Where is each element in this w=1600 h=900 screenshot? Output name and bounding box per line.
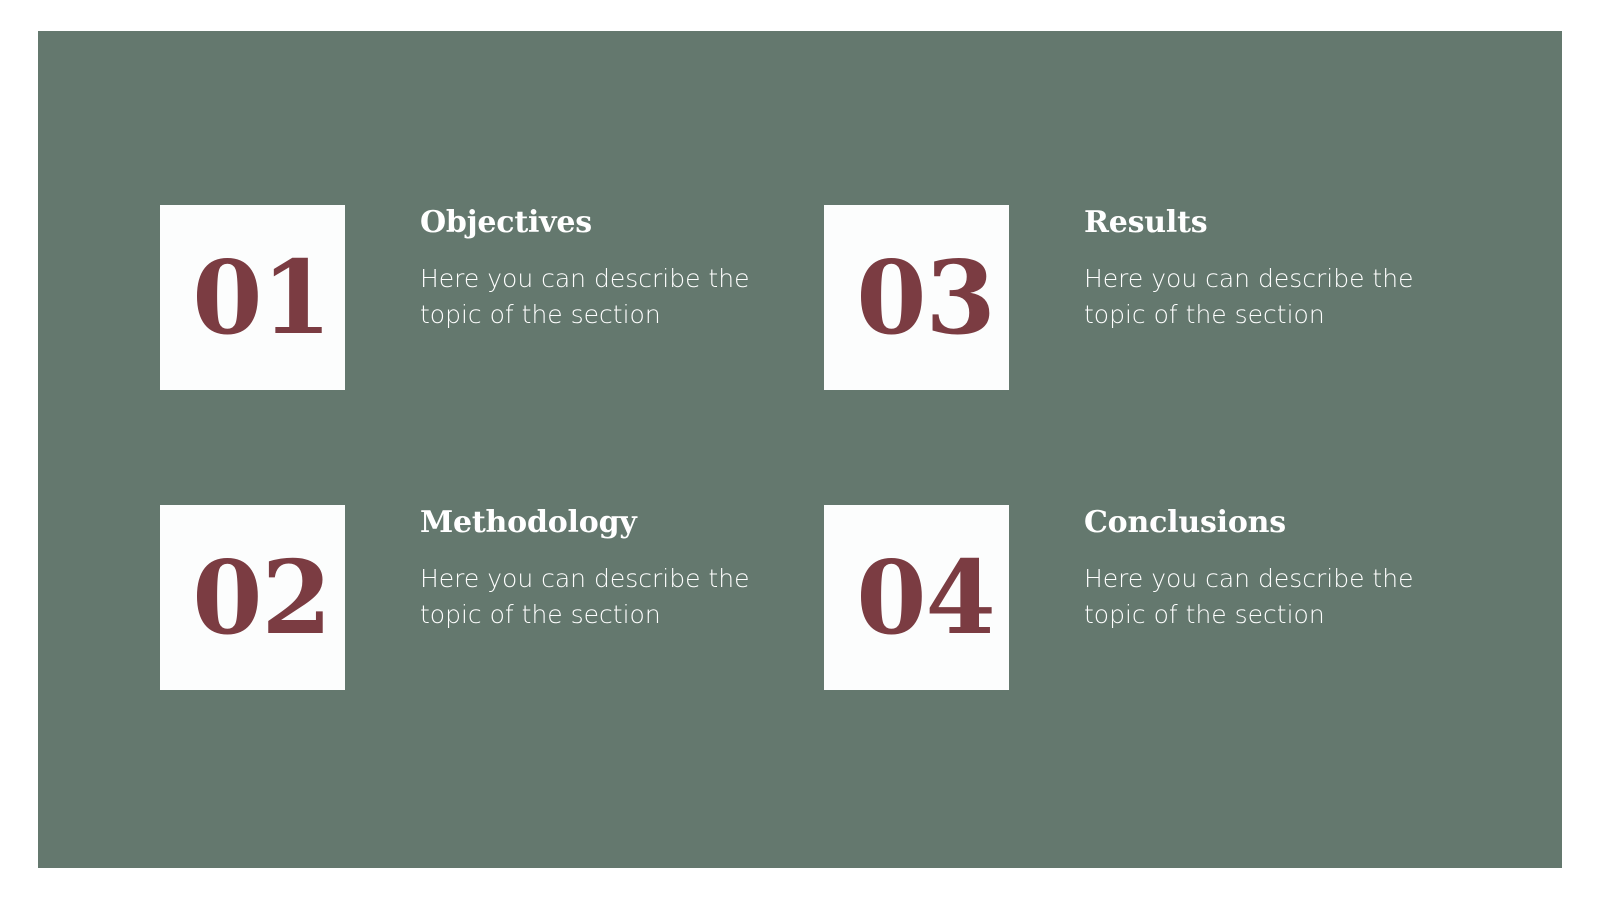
section-number-04: 04 [833,505,1018,690]
section-description-results: Here you can describe the topic of the s… [1084,261,1414,333]
section-item-objectives[interactable]: 01 Objectives Here you can describe the … [160,205,750,390]
number-plate-02: 02 [160,505,345,690]
section-description-objectives: Here you can describe the topic of the s… [420,261,750,333]
section-text-conclusions: Conclusions Here you can describe the to… [1084,505,1414,633]
section-text-results: Results Here you can describe the topic … [1084,205,1414,333]
section-number-02: 02 [169,505,354,690]
number-plate-03: 03 [824,205,1009,390]
section-title-methodology: Methodology [420,507,750,539]
section-description-conclusions: Here you can describe the topic of the s… [1084,561,1414,633]
number-plate-04: 04 [824,505,1009,690]
section-description-methodology: Here you can describe the topic of the s… [420,561,750,633]
section-item-results[interactable]: 03 Results Here you can describe the top… [824,205,1414,390]
section-title-results: Results [1084,207,1414,239]
section-text-objectives: Objectives Here you can describe the top… [420,205,750,333]
section-item-methodology[interactable]: 02 Methodology Here you can describe the… [160,505,750,690]
slide-canvas: 01 Objectives Here you can describe the … [38,31,1562,868]
section-title-conclusions: Conclusions [1084,507,1414,539]
section-text-methodology: Methodology Here you can describe the to… [420,505,750,633]
number-plate-01: 01 [160,205,345,390]
section-title-objectives: Objectives [420,207,750,239]
section-number-03: 03 [833,205,1018,390]
section-number-01: 01 [169,205,354,390]
section-item-conclusions[interactable]: 04 Conclusions Here you can describe the… [824,505,1414,690]
